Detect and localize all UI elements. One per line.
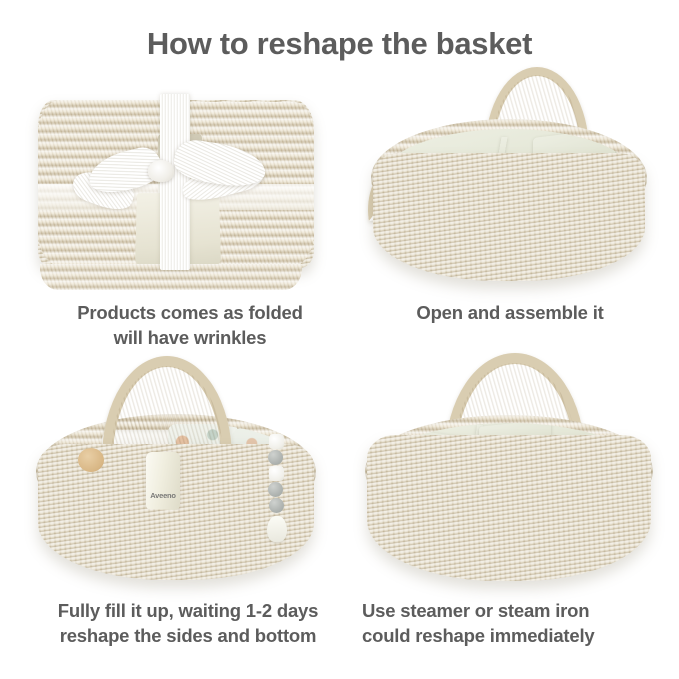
reshaped-basket-graphic (359, 353, 659, 585)
lotion-bottle: Aveeno (146, 452, 180, 510)
step-steam-caption: Use steamer or steam iron could reshape … (362, 598, 677, 648)
open-basket-photo (345, 55, 675, 295)
bunny-bead-charm (267, 516, 287, 542)
folded-basket-photo (10, 80, 340, 295)
filled-basket-graphic: Aveeno (28, 356, 324, 582)
filled-basket-photo: Aveeno (10, 350, 340, 590)
step-folded-caption: Products comes as folded will have wrink… (30, 300, 350, 350)
open-basket-graphic (359, 67, 659, 285)
reshaped-basket-photo (345, 345, 675, 590)
reshaped-basket-body (367, 435, 651, 581)
bead-round-2 (268, 482, 283, 497)
step-open-photo-cell (345, 55, 675, 295)
bead-teether-strand (268, 434, 286, 542)
how-to-reshape-infographic: How to reshape the basket P (0, 0, 679, 679)
bead-round-1 (268, 450, 283, 465)
basket-body (373, 153, 645, 281)
bead-letter-1 (269, 434, 284, 449)
filled-basket-handle (102, 356, 232, 458)
folded-basket-graphic (32, 96, 320, 284)
step-fill-caption: Fully fill it up, waiting 1-2 days resha… (18, 598, 358, 648)
bead-letter-2 (269, 466, 284, 481)
step-open-caption: Open and assemble it (355, 300, 665, 325)
bead-round-3 (269, 498, 284, 513)
step-folded-photo-cell (10, 80, 340, 295)
wooden-ring-toy (78, 448, 104, 472)
bow-knot (148, 160, 174, 182)
step-steam-photo-cell (345, 345, 675, 590)
lotion-bottle-label: Aveeno (148, 491, 178, 500)
page-title: How to reshape the basket (0, 26, 679, 62)
step-fill-photo-cell: Aveeno (10, 350, 340, 590)
